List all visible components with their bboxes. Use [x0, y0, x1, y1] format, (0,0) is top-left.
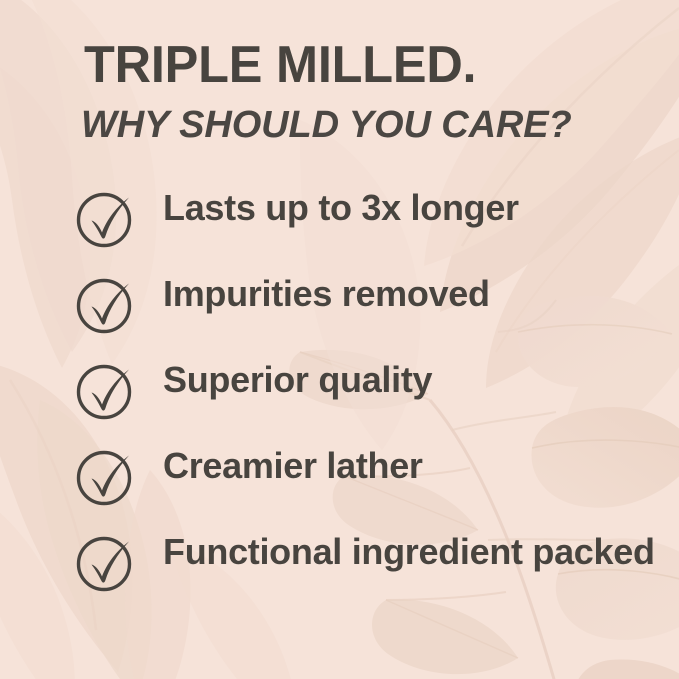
benefits-list: Lasts up to 3x longer Impurities removed: [0, 186, 679, 616]
list-item-label: Impurities removed: [163, 272, 668, 315]
content-layer: TRIPLE MILLED. WHY SHOULD YOU CARE? Last…: [0, 0, 679, 679]
check-circle-icon: [74, 532, 136, 594]
list-item: Lasts up to 3x longer: [0, 186, 679, 272]
list-item-label: Superior quality: [163, 358, 668, 401]
list-item: Creamier lather: [0, 444, 679, 530]
page-subtitle: WHY SHOULD YOU CARE?: [81, 105, 572, 145]
list-item-label: Lasts up to 3x longer: [163, 186, 668, 229]
infographic-canvas: TRIPLE MILLED. WHY SHOULD YOU CARE? Last…: [0, 0, 679, 679]
check-circle-icon: [74, 360, 136, 422]
list-item: Superior quality: [0, 358, 679, 444]
list-item: Impurities removed: [0, 272, 679, 358]
check-circle-icon: [74, 274, 136, 336]
check-circle-icon: [74, 188, 136, 250]
list-item-label: Creamier lather: [163, 444, 668, 487]
list-item: Functional ingredient packed: [0, 530, 679, 616]
page-title: TRIPLE MILLED.: [84, 39, 476, 91]
check-circle-icon: [74, 446, 136, 508]
list-item-label: Functional ingredient packed: [163, 530, 668, 573]
